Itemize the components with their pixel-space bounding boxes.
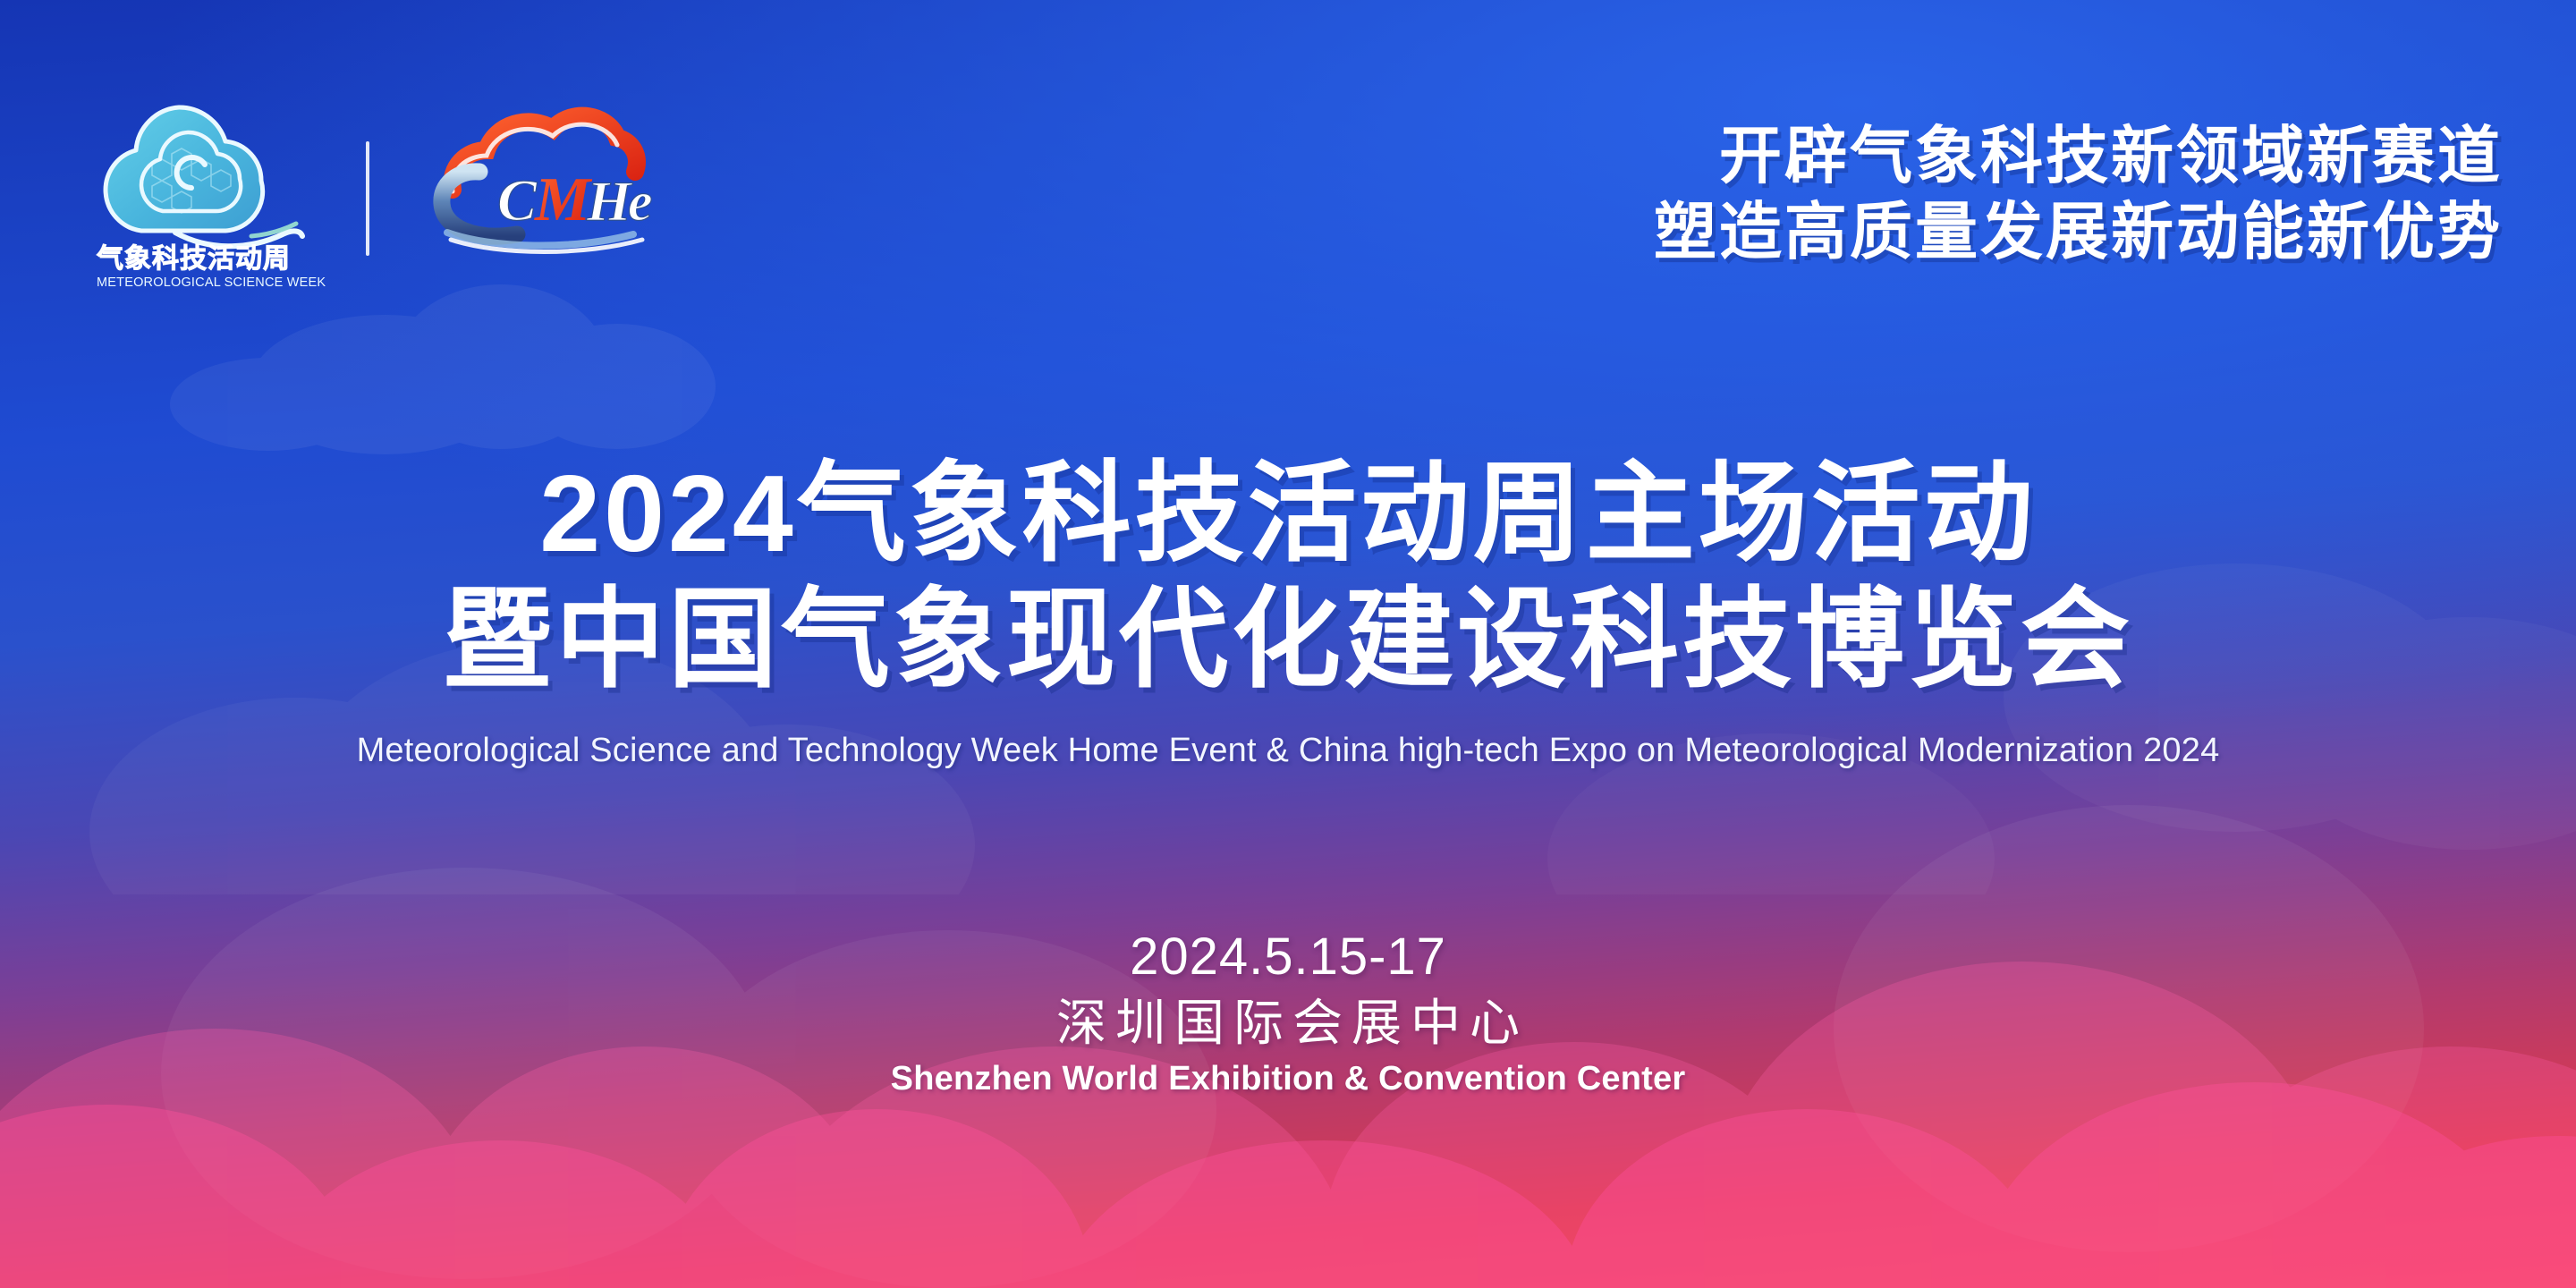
- svg-text:e: e: [628, 172, 653, 233]
- slogan-line-1: 开辟气象科技新领域新赛道: [1654, 118, 2503, 194]
- banner-header: 气象科技活动周 METEOROLOGICAL SCIENCE WEEK: [0, 0, 2576, 340]
- event-subtitle-english: Meteorological Science and Technology We…: [0, 732, 2576, 770]
- logo-divider: [366, 141, 369, 256]
- event-venue-en: Shenzhen World Exhibition & Convention C…: [0, 1059, 2576, 1100]
- svg-text:M: M: [534, 165, 593, 234]
- event-banner: 气象科技活动周 METEOROLOGICAL SCIENCE WEEK: [0, 0, 2576, 1288]
- slogan-line-2: 塑造高质量发展新动能新优势: [1654, 194, 2503, 270]
- banner-slogan: 开辟气象科技新领域新赛道 塑造高质量发展新动能新优势: [1654, 118, 2503, 271]
- event-date: 2024.5.15-17: [0, 926, 2576, 989]
- main-title-block: 2024气象科技活动周主场活动 暨中国气象现代化建设科技博览会 Meteorol…: [0, 447, 2576, 770]
- event-title-line-1: 2024气象科技活动周主场活动: [0, 447, 2576, 580]
- ccmhe-logo: C M H e: [420, 100, 716, 257]
- meteorological-science-week-logo: 气象科技活动周 METEOROLOGICAL SCIENCE WEEK: [86, 79, 327, 293]
- event-venue-cn: 深圳国际会展中心: [0, 993, 2576, 1054]
- msw-logo-title-en: METEOROLOGICAL SCIENCE WEEK: [97, 275, 326, 290]
- event-title-line-2: 暨中国气象现代化建设科技博览会: [0, 573, 2576, 707]
- cloud-shape-icon: [106, 107, 302, 246]
- event-details-block: 2024.5.15-17 深圳国际会展中心 Shenzhen World Exh…: [0, 926, 2576, 1100]
- ccmhe-wordmark: C M H e: [497, 165, 653, 234]
- msw-logo-title-cn: 气象科技活动周: [97, 244, 291, 274]
- svg-text:H: H: [586, 169, 633, 233]
- svg-text:C: C: [497, 168, 538, 233]
